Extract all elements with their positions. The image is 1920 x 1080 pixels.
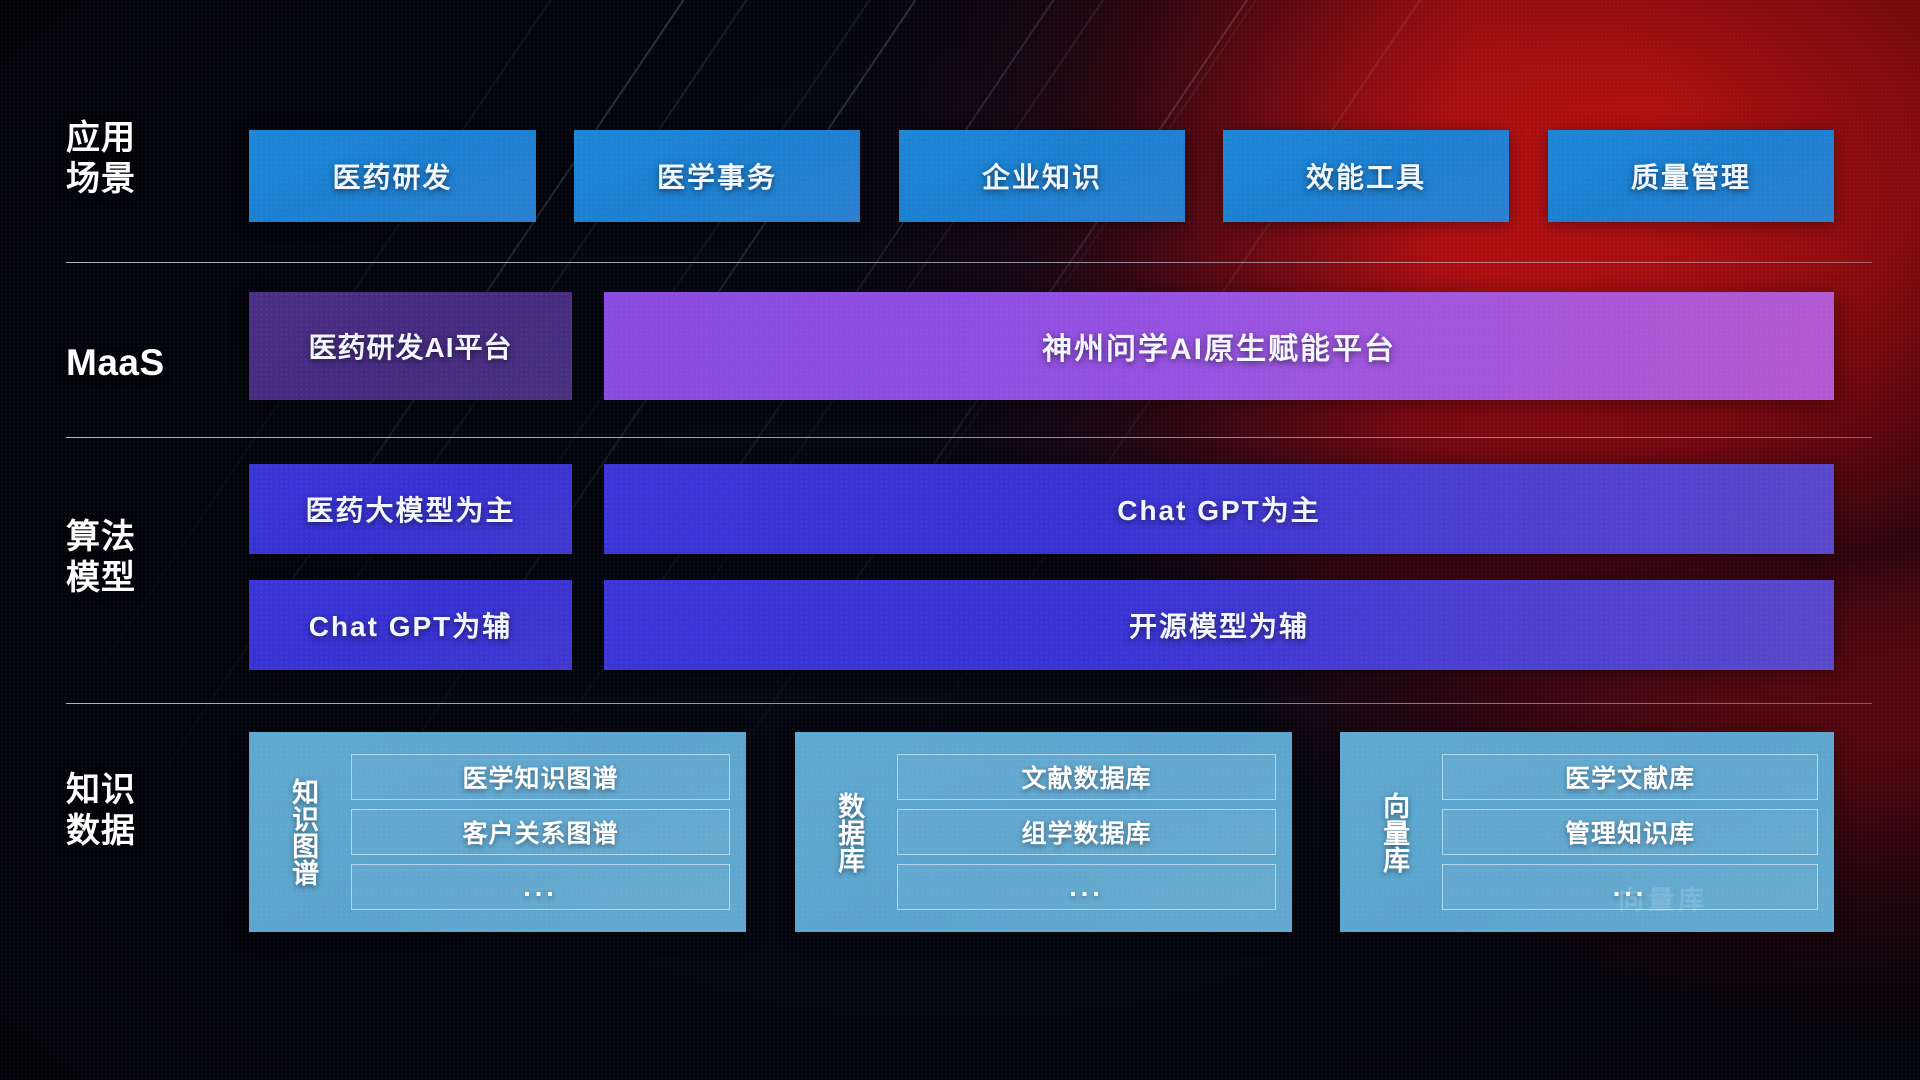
algo-box-label: 开源模型为辅 (1129, 605, 1309, 645)
knowledge-panel-title: 向量库 (1356, 792, 1432, 873)
app-box-drug-rd[interactable]: 医药研发 (249, 130, 536, 222)
row-label-line: 算法 (66, 517, 198, 558)
algo-box-open-source-secondary[interactable]: 开源模型为辅 (604, 580, 1834, 670)
maas-box-label: 神州问学AI原生赋能平台 (1042, 324, 1396, 368)
row-label-line: 应用 (66, 118, 198, 159)
knowledge-item-more[interactable]: ... (351, 864, 730, 910)
knowledge-item[interactable]: 管理知识库 (1442, 809, 1818, 855)
algo-box-chatgpt-secondary[interactable]: Chat GPT为辅 (249, 580, 572, 670)
app-box-efficiency-tools[interactable]: 效能工具 (1223, 130, 1509, 222)
row-label-algorithm-model: 算法 模型 (66, 517, 198, 600)
knowledge-panel-database[interactable]: 数据库 文献数据库 组学数据库 ... (795, 732, 1292, 932)
knowledge-item[interactable]: 文献数据库 (897, 754, 1276, 800)
app-box-label: 效能工具 (1306, 156, 1426, 196)
divider-below-algorithm-model (66, 703, 1872, 704)
maas-box-shenzhou-wenxue-platform[interactable]: 神州问学AI原生赋能平台 (604, 292, 1834, 400)
knowledge-panel-item-list: 医学知识图谱 客户关系图谱 ... (347, 744, 746, 920)
knowledge-panel-title: 数据库 (811, 792, 887, 873)
row-label-knowledge-data: 知识 数据 (66, 770, 198, 853)
row-label-line: MaaS (66, 340, 198, 385)
app-box-medical-affairs[interactable]: 医学事务 (574, 130, 860, 222)
algo-box-label: Chat GPT为主 (1117, 489, 1321, 529)
knowledge-panel-item-list: 文献数据库 组学数据库 ... (893, 744, 1292, 920)
row-label-maas: MaaS (66, 340, 198, 385)
knowledge-item[interactable]: 客户关系图谱 (351, 809, 730, 855)
algo-box-label: Chat GPT为辅 (309, 605, 513, 645)
knowledge-item-more[interactable]: ... (1442, 864, 1818, 910)
app-box-label: 企业知识 (982, 156, 1102, 196)
maas-box-label: 医药研发AI平台 (308, 326, 512, 366)
knowledge-item-more[interactable]: ... (897, 864, 1276, 910)
knowledge-item[interactable]: 组学数据库 (897, 809, 1276, 855)
algo-box-drug-large-model-primary[interactable]: 医药大模型为主 (249, 464, 572, 554)
knowledge-item[interactable]: 医学文献库 (1442, 754, 1818, 800)
app-box-quality-management[interactable]: 质量管理 (1548, 130, 1834, 222)
knowledge-panel-vector-database[interactable]: 向量库 医学文献库 管理知识库 ... (1340, 732, 1834, 932)
divider-below-application-scenario (66, 262, 1872, 263)
row-label-application-scenario: 应用 场景 (66, 118, 198, 201)
row-label-line: 数据 (66, 811, 198, 852)
app-box-enterprise-knowledge[interactable]: 企业知识 (899, 130, 1185, 222)
knowledge-panel-item-list: 医学文献库 管理知识库 ... (1438, 744, 1834, 920)
architecture-diagram: 应用 场景 医药研发 医学事务 企业知识 效能工具 质量管理 MaaS 医药研发… (0, 0, 1920, 1080)
algo-box-chatgpt-primary[interactable]: Chat GPT为主 (604, 464, 1834, 554)
knowledge-panel-knowledge-graph[interactable]: 知识图谱 医学知识图谱 客户关系图谱 ... (249, 732, 746, 932)
maas-box-drug-rd-ai-platform[interactable]: 医药研发AI平台 (249, 292, 572, 400)
knowledge-panel-title: 知识图谱 (265, 778, 341, 886)
divider-below-maas (66, 437, 1872, 438)
app-box-label: 医学事务 (657, 156, 777, 196)
app-box-label: 质量管理 (1631, 156, 1751, 196)
row-label-line: 模型 (66, 558, 198, 599)
row-label-line: 知识 (66, 770, 198, 811)
row-label-line: 场景 (66, 159, 198, 200)
algo-box-label: 医药大模型为主 (305, 489, 515, 529)
knowledge-item[interactable]: 医学知识图谱 (351, 754, 730, 800)
app-box-label: 医药研发 (332, 156, 452, 196)
